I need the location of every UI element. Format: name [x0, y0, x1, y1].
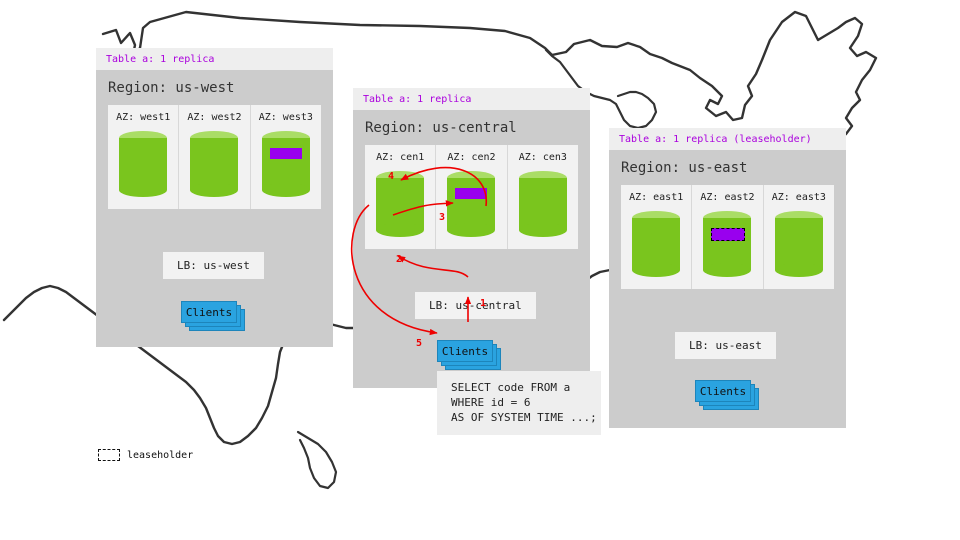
az-cell-cen1[interactable]: AZ: cen1 — [365, 145, 436, 249]
az-row-us-central: AZ: cen1 AZ: cen2 — [365, 145, 578, 249]
node-cylinder-west1[interactable] — [119, 131, 167, 197]
node-cylinder-east3[interactable] — [775, 211, 823, 277]
az-label-west1: AZ: west1 — [108, 112, 178, 123]
legend: leaseholder — [98, 449, 193, 461]
az-label-cen2: AZ: cen2 — [436, 152, 506, 163]
node-cylinder-east2[interactable] — [703, 211, 751, 277]
node-cylinder-west2[interactable] — [190, 131, 238, 197]
region-panel-us-west: Table a: 1 replica Region: us-west AZ: w… — [96, 48, 333, 347]
node-cylinder-east1[interactable] — [632, 211, 680, 277]
az-cell-west3[interactable]: AZ: west3 — [251, 105, 321, 209]
cylinder-bottom-west3 — [262, 183, 310, 197]
node-cylinder-cen1[interactable] — [376, 171, 424, 237]
cylinder-bottom-cen2 — [447, 223, 495, 237]
clients-button-us-east[interactable]: Clients — [695, 380, 751, 402]
clients-button-us-west[interactable]: Clients — [181, 301, 237, 323]
cylinder-bottom-cen3 — [519, 223, 567, 237]
dashed-rect-icon — [98, 449, 120, 461]
legend-label: leaseholder — [127, 450, 193, 461]
cylinder-bottom-east1 — [632, 263, 680, 277]
region-body-us-east: Region: us-east AZ: east1 AZ: east2 — [609, 150, 846, 428]
az-label-east3: AZ: east3 — [764, 192, 834, 203]
az-row-us-east: AZ: east1 AZ: east2 — [621, 185, 834, 289]
replica-marker-cen2[interactable] — [455, 188, 487, 199]
az-label-west3: AZ: west3 — [251, 112, 321, 123]
region-title-us-west: Region: us-west — [96, 70, 333, 105]
replica-marker-west3[interactable] — [270, 148, 302, 159]
clients-stack-us-east[interactable]: Clients — [695, 380, 757, 408]
region-header-us-west: Table a: 1 replica — [96, 48, 333, 70]
az-cell-east3[interactable]: AZ: east3 — [764, 185, 834, 289]
flow-step-number-2: 2 — [396, 254, 402, 265]
region-body-us-west: Region: us-west AZ: west1 AZ: west2 — [96, 70, 333, 347]
load-balancer-us-central[interactable]: LB: us-central — [415, 292, 536, 319]
az-cell-east1[interactable]: AZ: east1 — [621, 185, 692, 289]
clients-button-us-central[interactable]: Clients — [437, 340, 493, 362]
replica-marker-leaseholder-east2[interactable] — [711, 228, 745, 241]
region-title-us-east: Region: us-east — [609, 150, 846, 185]
node-cylinder-cen2[interactable] — [447, 171, 495, 237]
clients-stack-us-west[interactable]: Clients — [181, 301, 243, 329]
az-label-cen3: AZ: cen3 — [508, 152, 578, 163]
region-body-us-central: Region: us-central AZ: cen1 AZ: cen2 — [353, 110, 590, 388]
node-cylinder-cen3[interactable] — [519, 171, 567, 237]
cylinder-bottom-west2 — [190, 183, 238, 197]
az-row-us-west: AZ: west1 AZ: west2 — [108, 105, 321, 209]
az-label-east2: AZ: east2 — [692, 192, 762, 203]
region-panel-us-east: Table a: 1 replica (leaseholder) Region:… — [609, 128, 846, 428]
flow-step-number-5: 5 — [416, 338, 422, 349]
sql-query-note: SELECT code FROM a WHERE id = 6 AS OF SY… — [437, 371, 601, 435]
az-cell-cen2[interactable]: AZ: cen2 — [436, 145, 507, 249]
region-header-us-east: Table a: 1 replica (leaseholder) — [609, 128, 846, 150]
load-balancer-us-east[interactable]: LB: us-east — [675, 332, 776, 359]
az-label-east1: AZ: east1 — [621, 192, 691, 203]
cylinder-bottom-west1 — [119, 183, 167, 197]
flow-step-number-4: 4 — [388, 171, 394, 182]
az-cell-cen3[interactable]: AZ: cen3 — [508, 145, 578, 249]
region-header-us-central: Table a: 1 replica — [353, 88, 590, 110]
load-balancer-us-west[interactable]: LB: us-west — [163, 252, 264, 279]
region-title-us-central: Region: us-central — [353, 110, 590, 145]
node-cylinder-west3[interactable] — [262, 131, 310, 197]
region-panel-us-central: Table a: 1 replica Region: us-central AZ… — [353, 88, 590, 388]
flow-step-number-1: 1 — [480, 298, 486, 309]
cylinder-bottom-cen1 — [376, 223, 424, 237]
az-label-west2: AZ: west2 — [179, 112, 249, 123]
us-map-michigan-path — [298, 432, 336, 488]
cylinder-bottom-east3 — [775, 263, 823, 277]
az-cell-west1[interactable]: AZ: west1 — [108, 105, 179, 209]
cylinder-bottom-east2 — [703, 263, 751, 277]
clients-stack-us-central[interactable]: Clients — [437, 340, 499, 368]
az-label-cen1: AZ: cen1 — [365, 152, 435, 163]
diagram-canvas: Table a: 1 replica Region: us-west AZ: w… — [0, 0, 960, 540]
az-cell-west2[interactable]: AZ: west2 — [179, 105, 250, 209]
az-cell-east2[interactable]: AZ: east2 — [692, 185, 763, 289]
flow-step-number-3: 3 — [439, 212, 445, 223]
